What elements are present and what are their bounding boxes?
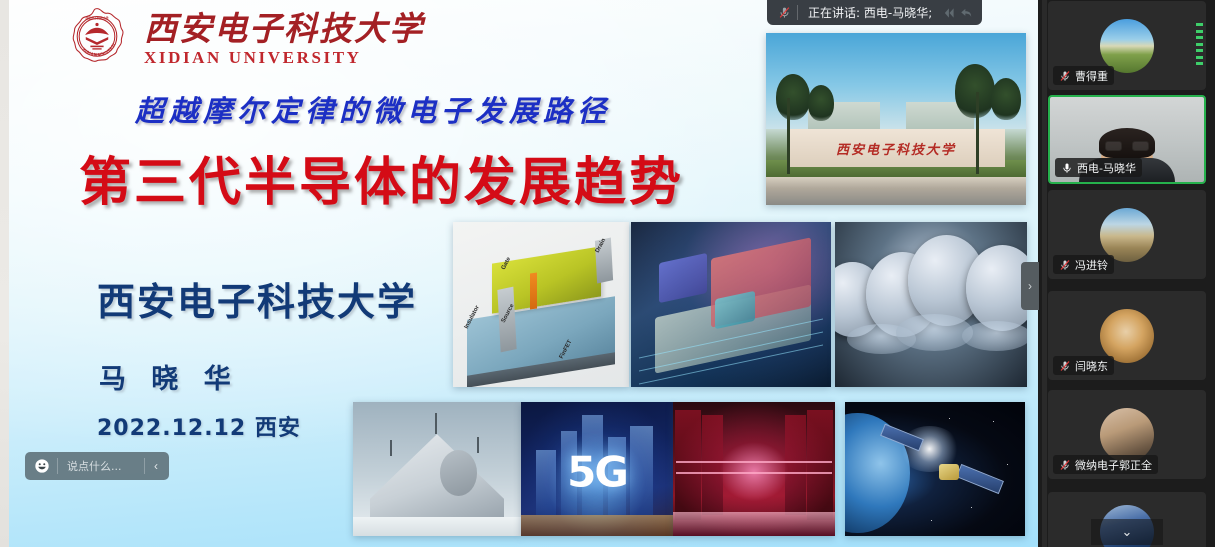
participant-name: 曹得重 (1073, 68, 1108, 84)
shared-slide: 西安电子科技大学 1931 XIDIAN UNIVERSITY 西安电子科技大学… (9, 0, 1038, 547)
phased-array-radar-photo (353, 402, 521, 536)
xidian-university-seal-icon: 西安电子科技大学 1931 XIDIAN UNIVERSITY (64, 6, 130, 72)
mic-muted-icon (1056, 456, 1073, 473)
radar-mast (435, 413, 437, 434)
participant-tile-active-speaker[interactable]: 西电-马晓华 (1048, 95, 1206, 184)
finfet-diagram: Gate Drain Source Insulator FinFET (453, 222, 629, 387)
satellite-orbit-photo (845, 402, 1025, 536)
campus-gate-photo: 西安电子科技大学 (766, 33, 1026, 205)
wafer (966, 245, 1027, 331)
city-road (521, 515, 673, 536)
mic-muted-icon (1056, 67, 1073, 84)
participant-name: 冯进铃 (1073, 257, 1108, 273)
participant-tile[interactable]: 闫晓东 (1048, 291, 1206, 380)
campus-stone-caption: 西安电子科技大学 (836, 139, 956, 158)
university-branding: 西安电子科技大学 1931 XIDIAN UNIVERSITY 西安电子科技大学… (64, 6, 424, 72)
meeting-window: 西安电子科技大学 1931 XIDIAN UNIVERSITY 西安电子科技大学… (0, 0, 1215, 547)
photo-snow-ground (353, 517, 521, 536)
participant-name: 西电-马晓华 (1075, 160, 1136, 176)
photo-tree-crown (955, 64, 995, 118)
chat-message-input[interactable]: 说点什么... (58, 453, 144, 479)
photo-tree-crown (776, 74, 810, 120)
glasses-icon (1105, 141, 1149, 151)
silicon-wafers-photo (835, 222, 1027, 387)
participant-name: 微纳电子郭正全 (1073, 457, 1152, 473)
speaking-banner: 正在讲话: 西电-马晓华; (767, 0, 982, 25)
panel-collapse-handle[interactable]: › (1021, 262, 1039, 310)
wafer-reflection (962, 321, 1027, 351)
chat-input-bar[interactable]: 说点什么... ‹ (25, 452, 169, 480)
chevron-right-icon: › (1028, 279, 1032, 293)
star (1007, 464, 1008, 465)
speaking-now-text: 正在讲话: 西电-马晓华; (798, 4, 942, 21)
5g-city-photo: 5G (521, 402, 673, 536)
participant-name-badge: 曹得重 (1053, 66, 1114, 85)
photo-tree-trunk (976, 92, 979, 175)
participant-name-badge: 冯进铃 (1053, 255, 1114, 274)
slide-presenter: 马 晓 华 (99, 357, 239, 396)
radar-mast (477, 437, 479, 453)
left-gutter (0, 0, 9, 547)
participant-name-badge: 西电-马晓华 (1055, 158, 1142, 177)
university-name-en: XIDIAN UNIVERSITY (144, 49, 424, 66)
photo-tree-crown (991, 78, 1021, 120)
mountain-photo-avatar (1100, 208, 1154, 262)
chip-package-render (631, 222, 831, 387)
slide-subtitle: 超越摩尔定律的微电子发展路径 (135, 88, 611, 130)
satellite-body (939, 464, 959, 480)
grassland-photo-avatar (1100, 19, 1154, 73)
chevron-left-icon[interactable]: ‹ (145, 453, 167, 479)
star (993, 421, 994, 422)
participant-name-badge: 闫晓东 (1053, 356, 1114, 375)
finfet-channel (530, 273, 537, 310)
svg-text:西安电子科技大学: 西安电子科技大学 (85, 15, 108, 20)
double-chevron-icon[interactable] (942, 6, 957, 20)
mic-on-icon (1058, 159, 1075, 176)
supercomputer-datacenter-photo (673, 402, 835, 536)
slide-title: 第三代半导体的发展趋势 (79, 140, 684, 215)
participant-tile[interactable]: ⌄ (1048, 492, 1206, 547)
star (971, 507, 972, 508)
slide-organization: 西安电子科技大学 (97, 271, 417, 326)
university-name-cn: 西安电子科技大学 (144, 12, 424, 45)
solar-panel-right (956, 464, 1004, 494)
participant-filmstrip[interactable]: 曹得重 西电-马晓华 (1038, 0, 1215, 547)
radar-mast (390, 440, 392, 456)
mic-muted-icon (1056, 256, 1073, 273)
participant-name: 闫晓东 (1073, 358, 1108, 374)
audio-level-meter (1196, 23, 1203, 65)
mic-muted-icon (1056, 357, 1073, 374)
participant-tile[interactable]: 微纳电子郭正全 (1048, 390, 1206, 479)
chevron-down-icon[interactable]: ⌄ (1091, 519, 1163, 545)
light-beam (676, 461, 832, 463)
5g-caption: 5G (567, 447, 627, 496)
participant-name-badge: 微纳电子郭正全 (1053, 455, 1158, 474)
light-beam (676, 472, 832, 474)
participant-tile[interactable]: 冯进铃 (1048, 190, 1206, 279)
mic-muted-icon (771, 0, 797, 25)
photo-tree-trunk (787, 98, 790, 174)
photo-name-stone: 西安电子科技大学 (787, 129, 1005, 167)
participant-tile[interactable]: 曹得重 (1048, 1, 1206, 90)
slide-date-city: 2022.12.12 西安 (97, 410, 301, 442)
university-name-block: 西安电子科技大学 XIDIAN UNIVERSITY (144, 12, 424, 66)
filmstrip-scrollbar[interactable] (1042, 0, 1047, 547)
star (949, 418, 950, 419)
photo-road (766, 177, 1026, 205)
reply-arrow-icon[interactable] (959, 6, 974, 20)
kittens-photo-avatar (1100, 309, 1154, 363)
banner-controls[interactable] (942, 6, 982, 20)
smiley-icon[interactable] (27, 453, 57, 479)
radar-dish (440, 450, 477, 496)
star (931, 520, 932, 521)
aisle-floor (673, 512, 835, 536)
photo-tree-crown (808, 85, 834, 121)
pet-photo-avatar (1100, 408, 1154, 462)
